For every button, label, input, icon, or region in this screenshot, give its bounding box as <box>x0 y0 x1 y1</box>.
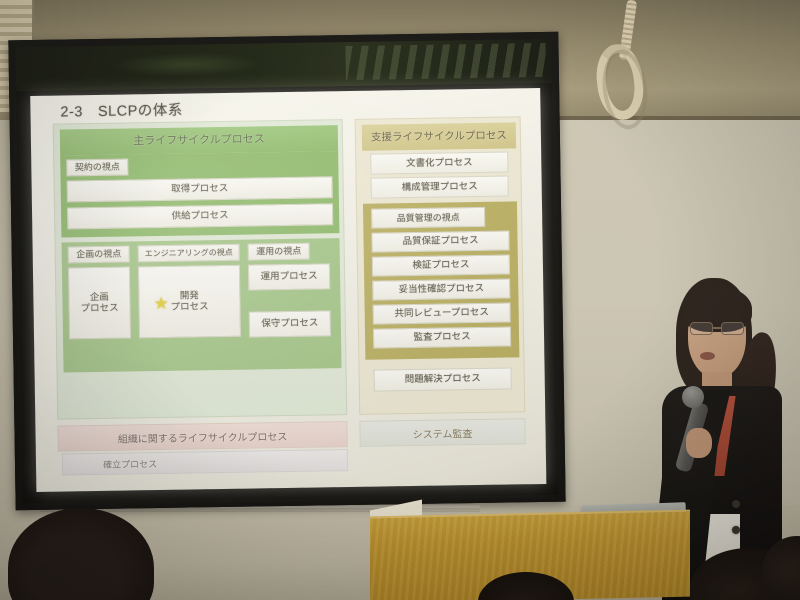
support-lifecycle-panel: 支援ライフサイクルプロセス 文書化プロセス 構成管理プロセス 品質管理の視点 品… <box>355 116 526 415</box>
mouth <box>700 352 715 360</box>
quality-assurance-process-box: 品質保証プロセス <box>371 231 509 253</box>
contract-viewpoint-tag: 契約の視点 <box>66 158 128 176</box>
projector-dark-band <box>15 39 552 91</box>
glasses-lens-left <box>690 322 713 335</box>
hand <box>686 428 712 458</box>
development-process-box: ★ 開発プロセス <box>138 265 241 339</box>
presentation-slide: 2-3 SLCPの体系 主ライフサイクルプロセス 契約の視点 取得プロセス 供給… <box>30 88 546 492</box>
joint-review-process-box: 共同レビュープロセス <box>373 302 511 324</box>
projection-ghost-left <box>112 51 262 77</box>
documentation-process-box: 文書化プロセス <box>370 152 508 175</box>
establish-process-bar: 確立プロセス <box>62 449 348 475</box>
supply-process-box: 供給プロセス <box>67 203 333 229</box>
operation-process-box: 運用プロセス <box>248 263 330 290</box>
quality-management-group: 品質管理の視点 品質保証プロセス 検証プロセス 妥当性確認プロセス 共同レビュー… <box>363 201 519 359</box>
glasses-icon <box>690 322 746 335</box>
blazer-button-upper <box>732 500 740 508</box>
glasses-lens-right <box>721 322 744 335</box>
star-icon: ★ <box>153 295 169 312</box>
glasses-bridge <box>713 327 721 329</box>
contract-viewpoint-group: 契約の視点 取得プロセス 供給プロセス <box>60 151 339 237</box>
configuration-management-process-box: 構成管理プロセス <box>371 176 509 199</box>
maintenance-process-box: 保守プロセス <box>249 310 331 337</box>
operation-viewpoint-tag: 運用の視点 <box>248 243 310 261</box>
verification-process-box: 検証プロセス <box>372 254 510 276</box>
slcp-diagram: 主ライフサイクルプロセス 契約の視点 取得プロセス 供給プロセス 企画の視点 エ… <box>37 116 541 488</box>
main-lifecycle-panel: 主ライフサイクルプロセス 契約の視点 取得プロセス 供給プロセス 企画の視点 エ… <box>53 119 348 420</box>
development-process-label: 開発プロセス <box>170 290 208 313</box>
blazer-button-lower <box>732 526 740 534</box>
projector-screen: 2-3 SLCPの体系 主ライフサイクルプロセス 契約の視点 取得プロセス 供給… <box>8 32 565 511</box>
system-audit-bar: システム監査 <box>359 418 525 447</box>
projection-ghost-right <box>345 43 546 80</box>
planning-viewpoint-tag: 企画の視点 <box>68 245 130 263</box>
problem-resolution-process-box: 問題解決プロセス <box>374 367 512 391</box>
engineering-viewpoint-group: 企画の視点 エンジニアリングの視点 運用の視点 企画プロセス ★ 開発プロセス … <box>62 238 342 372</box>
engineering-viewpoint-tag: エンジニアリングの視点 <box>138 244 240 263</box>
validation-process-box: 妥当性確認プロセス <box>372 278 510 300</box>
planning-process-box: 企画プロセス <box>68 266 131 339</box>
support-lifecycle-header: 支援ライフサイクルプロセス <box>362 122 516 150</box>
audit-process-box: 監査プロセス <box>373 326 511 348</box>
organization-lifecycle-bar: 組織に関するライフサイクルプロセス <box>57 421 347 452</box>
lecture-room-photo: 2-3 SLCPの体系 主ライフサイクルプロセス 契約の視点 取得プロセス 供給… <box>0 0 800 600</box>
quality-management-viewpoint-tag: 品質管理の視点 <box>371 207 485 229</box>
slide-title: 2-3 SLCPの体系 <box>60 99 183 122</box>
acquisition-process-box: 取得プロセス <box>67 176 333 202</box>
